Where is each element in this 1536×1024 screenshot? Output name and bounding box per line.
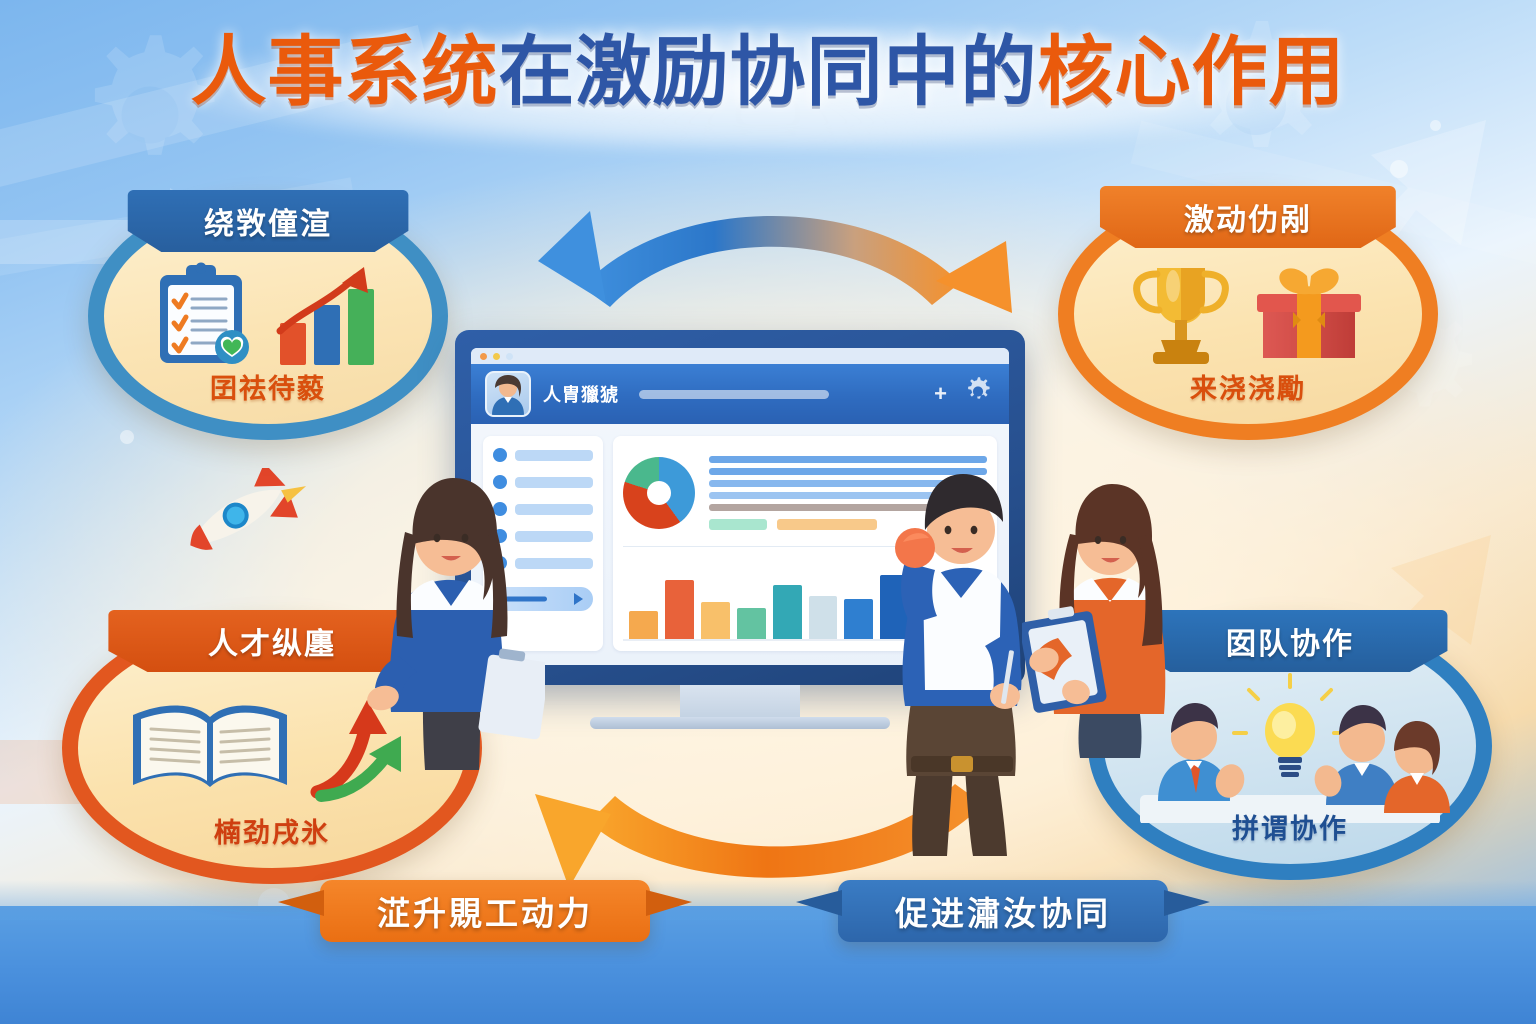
traffic-light-close[interactable] xyxy=(480,353,487,360)
traffic-light-maximize[interactable] xyxy=(506,353,513,360)
status-badge xyxy=(709,519,767,530)
search-input[interactable] xyxy=(639,390,829,399)
app-title: 人胄獵猇 xyxy=(543,381,619,407)
gear-icon[interactable] xyxy=(961,375,995,414)
bottom-tag-motivation[interactable]: 淽升覞工动力 xyxy=(320,880,650,942)
open-book-icon xyxy=(125,693,295,803)
card-incentive-banner: 激动仂剐 xyxy=(1100,186,1396,248)
bar xyxy=(773,585,802,639)
title-part-1: 人事系统 xyxy=(191,30,499,115)
infographic-poster: 人事系统在激励协同中的核心作用 xyxy=(0,0,1536,1024)
trophy-icon xyxy=(1127,256,1235,372)
ribbon-wing-right xyxy=(646,890,692,932)
page-title: 人事系统在激励协同中的核心作用 xyxy=(0,30,1536,115)
growth-bar-chart-icon xyxy=(268,261,386,371)
hr-woman-right xyxy=(1022,448,1202,758)
gift-box-icon xyxy=(1249,258,1369,370)
ribbon-wing-left xyxy=(796,890,842,932)
donut-chart xyxy=(623,457,695,529)
title-part-3: 核心作用 xyxy=(1038,30,1346,115)
bar xyxy=(809,596,838,639)
bottom-tag-synergy[interactable]: 促进潚汝协同 xyxy=(838,880,1168,942)
bottom-blue-band xyxy=(0,906,1536,1024)
card-teamwork-caption: 拼谓协作 xyxy=(1088,807,1492,846)
card-performance-banner: 绕敩僮渲 xyxy=(128,190,409,252)
bar xyxy=(737,608,766,639)
plus-icon[interactable]: + xyxy=(934,381,947,407)
card-incentive[interactable]: 激动仂剐 xyxy=(1058,188,1438,440)
card-performance-caption: 囝祛待藙 xyxy=(88,367,448,406)
card-incentive-caption: 来浇浇勵 xyxy=(1058,367,1438,406)
monitor-base xyxy=(590,717,890,729)
ribbon-wing-right xyxy=(1164,890,1210,932)
app-header: 人胄獵猇 + xyxy=(471,364,1009,424)
monitor-stand xyxy=(680,685,800,719)
clipboard-checklist-icon xyxy=(150,261,254,371)
card-performance[interactable]: 绕敩僮渲 xyxy=(88,192,448,440)
traffic-light-minimize[interactable] xyxy=(493,353,500,360)
title-part-2: 在激励协同中的 xyxy=(499,30,1038,115)
rocket-icon xyxy=(160,468,320,588)
bottom-tag-synergy-label: 促进潚汝协同 xyxy=(895,887,1111,935)
window-titlebar xyxy=(471,348,1009,364)
cycle-arrow-top xyxy=(520,175,1020,315)
hr-woman-left xyxy=(355,440,545,780)
card-performance-art xyxy=(88,270,448,362)
avatar[interactable] xyxy=(485,371,531,417)
bottom-tag-motivation-label: 淽升覞工动力 xyxy=(377,887,593,935)
card-incentive-art xyxy=(1058,266,1438,362)
bar xyxy=(629,611,658,639)
card-talent-caption: 楠劲戌氷 xyxy=(62,811,482,850)
bar xyxy=(665,580,694,639)
ribbon-wing-left xyxy=(278,890,324,932)
bar xyxy=(701,602,730,639)
